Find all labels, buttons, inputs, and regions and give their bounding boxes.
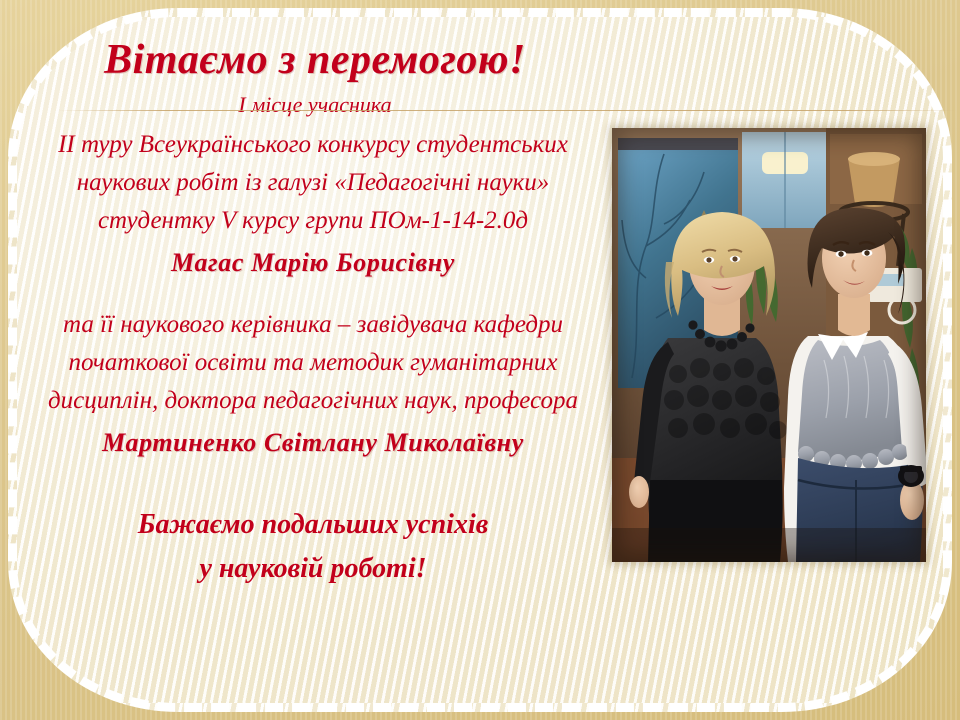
congratulation-slide: Вітаємо з перемогою! І місце учасника ІІ… [0,0,960,720]
student-name: Магас Марію Борисівну [8,244,618,282]
subtitle-place: І місце учасника [0,92,630,118]
award-line-3: студентку V курсу групи ПОм-1-14-2.0д [8,202,618,240]
supervisor-name: Мартиненко Світлану Миколаївну [8,424,618,462]
photo-of-honorees [612,128,926,562]
supervisor-line-2: початкової освіти та методик гуманітарни… [8,344,618,382]
closing-line-2: у науковій роботі! [8,547,618,591]
title-divider-rule [56,110,956,111]
award-line-2: наукових робіт із галузі «Педагогічні на… [8,164,618,202]
supervisor-line-3: дисциплін, доктора педагогічних наук, пр… [8,382,618,420]
photo-illustration [612,128,926,562]
page-title: Вітаємо з перемогою! [0,36,630,84]
supervisor-description-block: та її наукового керівника – завідувача к… [8,306,618,462]
closing-line-1: Бажаємо подальших успіхів [8,503,618,547]
supervisor-line-1: та її наукового керівника – завідувача к… [8,306,618,344]
closing-wish-block: Бажаємо подальших успіхів у науковій роб… [8,503,618,591]
slide-content: Вітаємо з перемогою! І місце учасника ІІ… [0,0,960,720]
award-description-block: ІІ туру Всеукраїнського конкурсу студент… [8,126,618,282]
award-line-1: ІІ туру Всеукраїнського конкурсу студент… [8,126,618,164]
